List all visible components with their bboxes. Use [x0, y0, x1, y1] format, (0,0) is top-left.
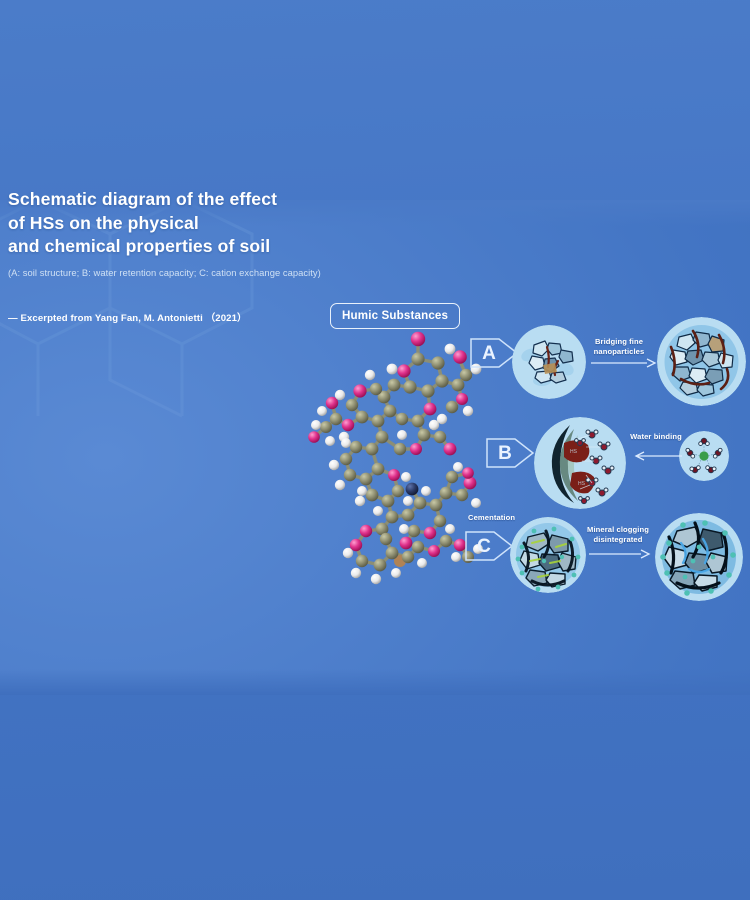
panel-c-label-line1: Mineral clogging — [587, 525, 649, 534]
panel-c-cemented-aggregate-circle — [510, 517, 586, 593]
panel-c-connector-arrow — [589, 547, 651, 561]
panel-a-label-line2: nanoparticles — [594, 347, 645, 356]
source-citation: — Excerpted from Yang Fan, M. Antonietti… — [8, 310, 338, 324]
carbon-atoms — [320, 352, 474, 571]
title-line-2: of HSs on the physical — [8, 212, 338, 236]
panel-a-loose-particles-circle — [512, 325, 586, 399]
panel-b-process-label: Water binding — [626, 432, 686, 442]
marker-arrow-b: B — [484, 430, 536, 476]
caption-block: Schematic diagram of the effect of HSs o… — [8, 188, 338, 324]
panel-c-label-line2: disintegrated — [594, 535, 643, 544]
marker-letter-b: B — [493, 430, 517, 476]
title-line-3: and chemical properties of soil — [8, 235, 338, 259]
title-line-1: Schematic diagram of the effect — [8, 188, 338, 212]
page-title: Schematic diagram of the effect of HSs o… — [8, 188, 338, 259]
panel-c-process-label: Mineral clogging disintegrated — [580, 525, 656, 544]
svg-text:HS: HS — [578, 481, 586, 487]
svg-text:HS: HS — [570, 449, 578, 455]
nitrogen-atom — [406, 483, 419, 496]
panel-a-label-line1: Bridging fine — [595, 337, 643, 346]
marker-arrow-c: C — [463, 523, 515, 569]
marker-letter-c: C — [472, 523, 496, 569]
page-backdrop: Schematic diagram of the effect of HSs o… — [0, 0, 750, 900]
panel-c-stage-label: Cementation — [468, 513, 524, 523]
panel-c-disintegrated-aggregate-circle — [655, 513, 743, 601]
panel-a-bridged-aggregate-circle — [657, 317, 746, 406]
panel-b-humic-water-circle: HSHS — [534, 417, 626, 509]
band-bottom-fade — [0, 669, 750, 695]
panel-a-process-label: Bridging fine nanoparticles — [583, 337, 655, 356]
panel-b-connector-arrow — [628, 449, 682, 463]
title-subtitle: (A: soil structure; B: water retention c… — [8, 266, 338, 279]
panel-b-hydrated-cation-circle — [679, 431, 729, 481]
panel-a-connector-arrow — [591, 356, 657, 370]
marker-letter-a: A — [477, 330, 501, 376]
